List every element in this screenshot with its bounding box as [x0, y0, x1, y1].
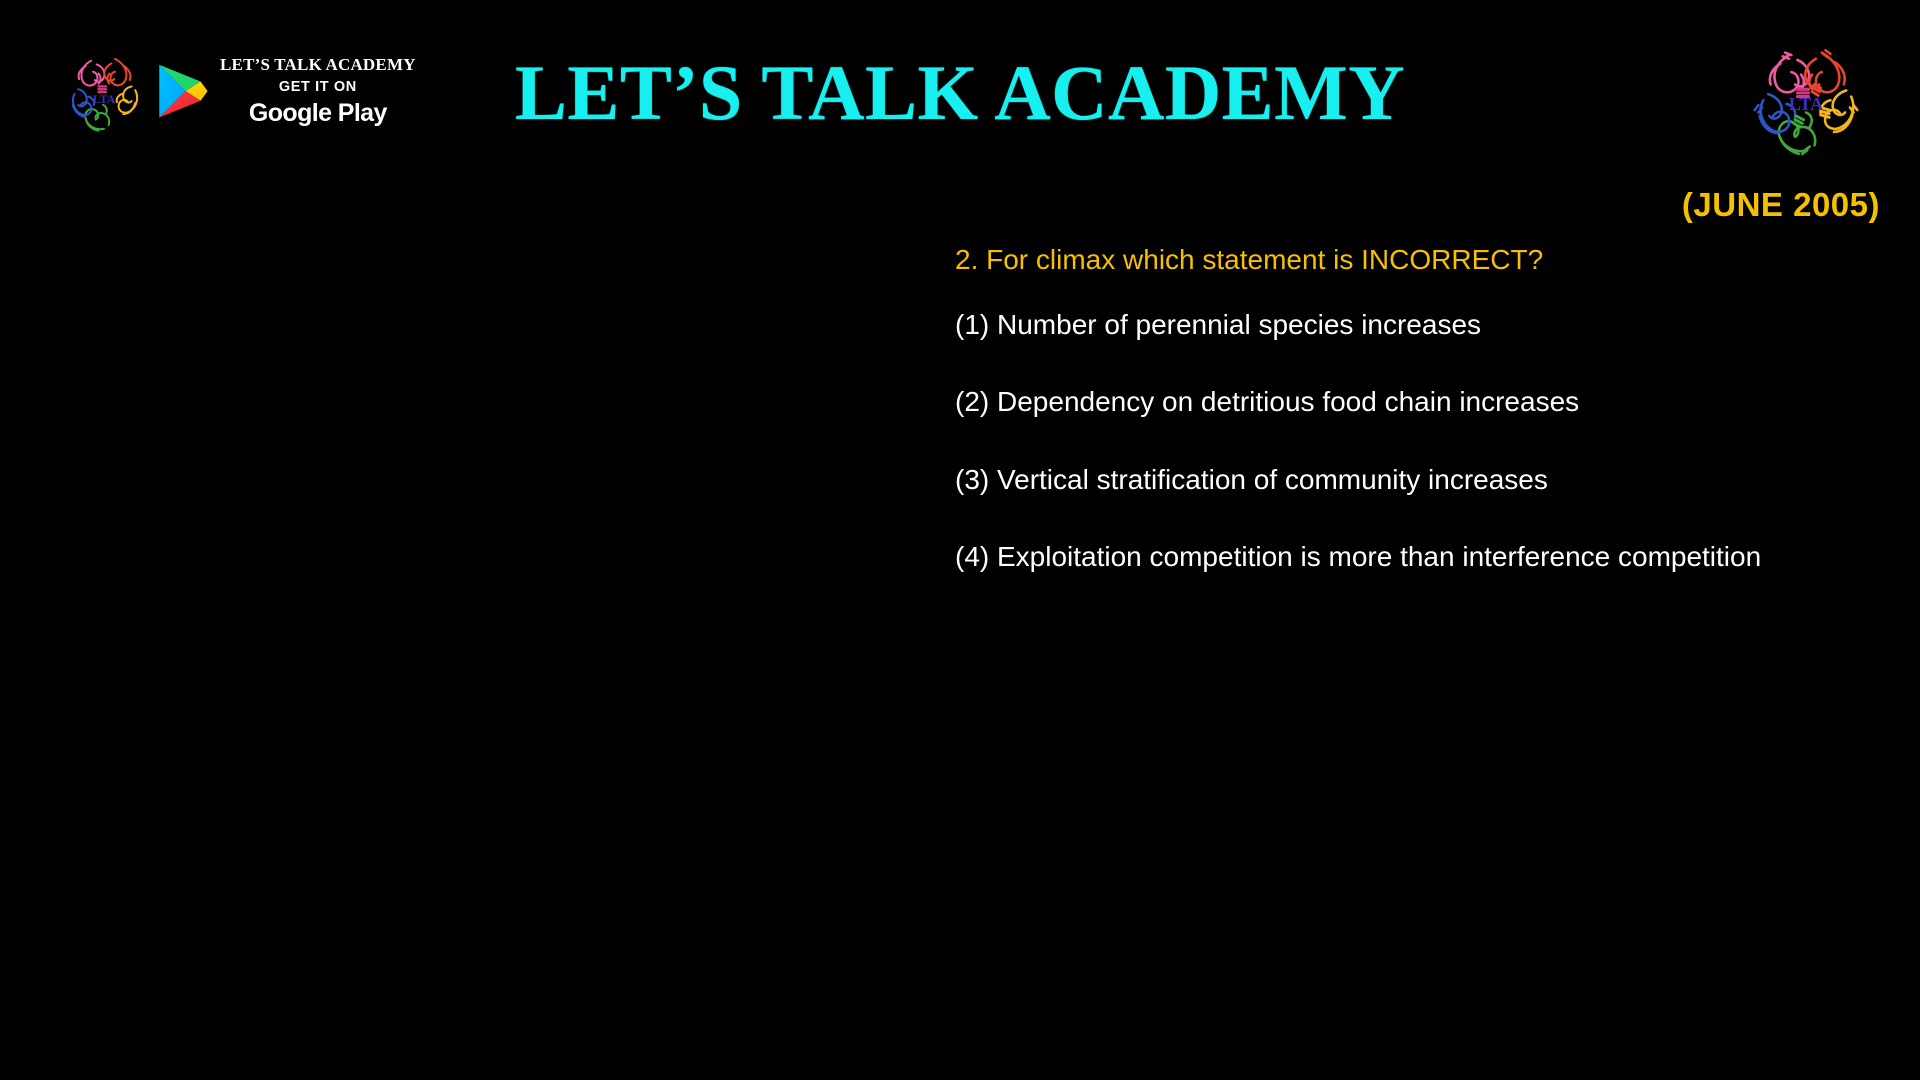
option-3[interactable]: (3) Vertical stratification of community…: [955, 462, 1765, 498]
svg-text:LTA: LTA: [1789, 94, 1824, 114]
slide-canvas: LTA: [0, 0, 1920, 1080]
page-title: LET’S TALK ACADEMY: [0, 52, 1920, 134]
option-4[interactable]: (4) Exploitation competition is more tha…: [955, 539, 1765, 575]
question-text: 2. For climax which statement is INCORRE…: [955, 242, 1805, 277]
option-2[interactable]: (2) Dependency on detritious food chain …: [955, 384, 1765, 420]
option-1[interactable]: (1) Number of perennial species increase…: [955, 307, 1765, 343]
exam-session-badge: (JUNE 2005): [1682, 186, 1880, 224]
question-block: 2. For climax which statement is INCORRE…: [955, 242, 1805, 576]
lta-protein-ring-logo-icon-large: LTA: [1740, 38, 1872, 160]
